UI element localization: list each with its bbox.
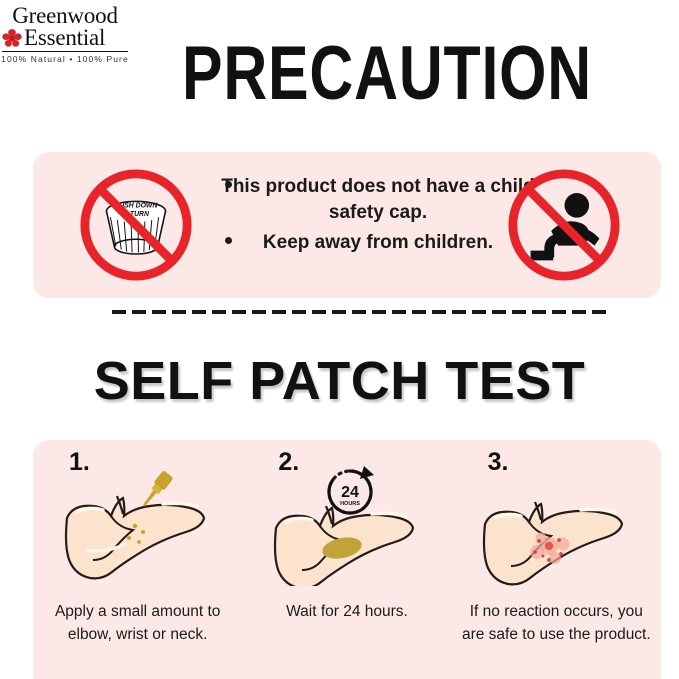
no-child-safety-cap-icon: PUSH DOWN & TURN: [77, 166, 195, 284]
step-caption-3: If no reaction occurs, you are safe to u…: [460, 600, 653, 646]
precaution-bullet-list: This product does not have a child safet…: [213, 174, 543, 260]
patch-step-3: 3.: [452, 440, 661, 679]
elbow-with-rash-icon: [471, 466, 641, 586]
bullet-dot-icon: [225, 181, 232, 188]
svg-text:HOURS: HOURS: [340, 501, 360, 507]
precaution-bullet-1: This product does not have a child safet…: [221, 176, 535, 223]
elbow-with-dropper-icon: [53, 466, 223, 586]
patch-step-2: 2. 24 HOURS Wait for: [242, 440, 451, 679]
brand-logo: Greenwood Essential 100% N: [0, 4, 130, 64]
step-caption-2: Wait for 24 hours.: [250, 600, 443, 623]
elbow-with-24-hours-clock-icon: 24 HOURS: [262, 466, 432, 586]
self-patch-test-heading: SELF PATCH TEST: [0, 352, 679, 410]
brand-name-line2: Essential: [24, 26, 105, 50]
brand-tagline: 100% Natural • 100% Pure: [0, 54, 130, 64]
logo-divider-rule: [2, 51, 128, 52]
dashed-divider: [112, 310, 608, 314]
no-children-icon: [505, 166, 623, 284]
list-item: This product does not have a child safet…: [213, 174, 543, 226]
flower-icon: [2, 28, 22, 48]
precaution-panel: PUSH DOWN & TURN This product does not h…: [33, 152, 661, 298]
list-item: Keep away from children.: [213, 230, 543, 256]
patch-step-1: 1.: [33, 440, 242, 679]
step-caption-1: Apply a small amount to elbow, wrist or …: [41, 600, 234, 646]
precaution-bullet-2: Keep away from children.: [263, 232, 493, 253]
brand-name-line1: Greenwood: [0, 4, 130, 27]
bullet-dot-icon: [225, 237, 232, 244]
svg-text:24: 24: [341, 484, 359, 501]
patch-test-panel: 1.: [33, 440, 661, 679]
precaution-heading: PRECAUTION: [182, 36, 518, 112]
